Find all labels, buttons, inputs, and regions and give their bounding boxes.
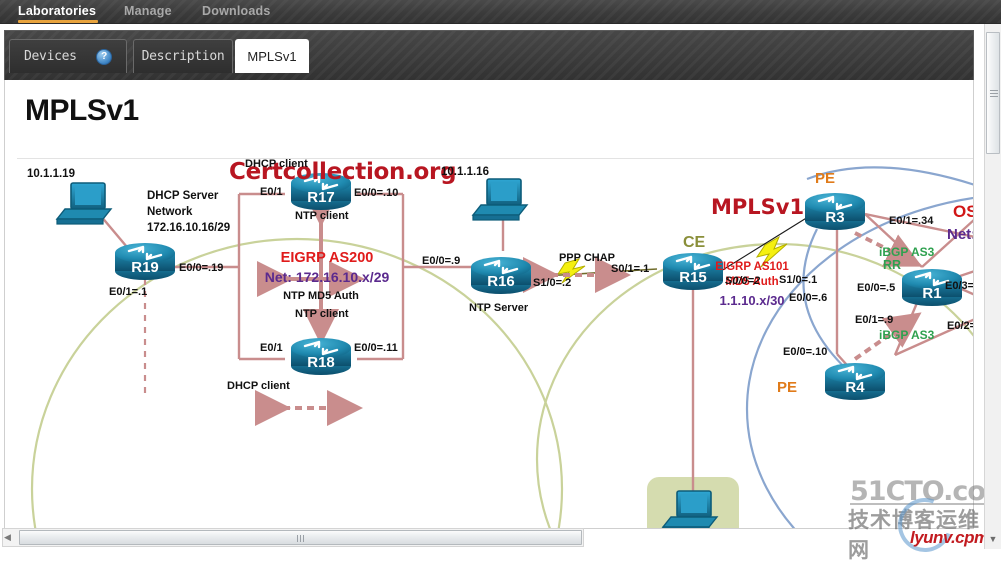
tab-devices-label: Devices bbox=[24, 40, 77, 73]
note-ppp-chap: PPP CHAP bbox=[559, 252, 615, 264]
horizontal-scrollbar-thumb[interactable] bbox=[19, 530, 582, 545]
note-ibgp-as3-bottom: iBGP AS3 bbox=[879, 328, 935, 342]
iface-r18-e0-1: E0/1 bbox=[260, 342, 283, 354]
label-pe-r4: PE bbox=[777, 379, 797, 396]
label-pe-r3: PE bbox=[815, 170, 835, 187]
topology-title: MPLSv1 bbox=[711, 195, 804, 219]
router-r4[interactable]: R4 bbox=[825, 363, 885, 400]
svg-text:R16: R16 bbox=[487, 273, 515, 290]
label-eigrp-as200-net: Net: 172.16.10.x/29 bbox=[265, 269, 390, 285]
label-ospf: OSP bbox=[953, 202, 974, 221]
label-ospf-net: Net: 19 bbox=[947, 226, 974, 243]
svg-text:R3: R3 bbox=[825, 209, 844, 226]
scrollbar-grip-icon bbox=[297, 535, 305, 542]
iface-r15-s0-1: S0/1=.1 bbox=[611, 263, 649, 275]
nav-item-manage[interactable]: Manage bbox=[124, 0, 172, 24]
label-ce-r15: CE bbox=[683, 234, 706, 251]
iface-r16-e0-0: E0/0=.9 bbox=[422, 255, 460, 267]
iface-r1-e0-3: E0/3=.1 bbox=[945, 280, 974, 292]
host-10-1-1-16[interactable] bbox=[473, 179, 527, 220]
note-ntp-md5-auth: NTP MD5 Auth bbox=[283, 290, 359, 302]
tab-devices[interactable]: Devices ? bbox=[9, 39, 127, 73]
content-pane: MPLSv1 bbox=[4, 80, 974, 529]
note-dhcp-server-line2: Network bbox=[147, 206, 193, 218]
label-host-10-1-1-16: 10.1.1.16 bbox=[441, 166, 489, 178]
note-dhcp-client-bottom: DHCP client bbox=[227, 380, 290, 392]
note-ntp-server: NTP Server bbox=[469, 302, 529, 314]
topology-svg: R19 R17 R18 bbox=[17, 159, 974, 529]
scroll-down-arrow-icon[interactable]: ▼ bbox=[987, 533, 999, 545]
help-icon[interactable]: ? bbox=[96, 49, 112, 65]
scroll-left-arrow-icon[interactable]: ◀ bbox=[4, 532, 11, 543]
iface-r17-e0-1: E0/1 bbox=[260, 186, 283, 198]
svg-text:R4: R4 bbox=[845, 379, 865, 396]
iface-r16-s1-0: S1/0=.2 bbox=[533, 277, 571, 289]
label-eigrp-as101-net: 1.1.10.x/30 bbox=[719, 293, 784, 308]
iface-r15-s0-0: S0/0=2 bbox=[725, 275, 760, 287]
label-eigrp-as101: EIGRP AS101 bbox=[715, 261, 789, 273]
note-ntp-client-r18: NTP client bbox=[295, 308, 349, 320]
tab-mplsv1[interactable]: MPLSv1 bbox=[235, 39, 309, 73]
router-r3[interactable]: R3 bbox=[805, 193, 865, 230]
network-diagram: R19 R17 R18 bbox=[17, 158, 974, 529]
iface-r19-e0-1: E0/1=.1 bbox=[109, 286, 147, 298]
iface-r18-e0-0: E0/0=.11 bbox=[354, 342, 398, 354]
svg-text:R15: R15 bbox=[679, 269, 707, 286]
label-eigrp-as200: EIGRP AS200 bbox=[281, 250, 374, 266]
label-host-10-1-1-19: 10.1.1.19 bbox=[27, 168, 75, 180]
iface-r3-s1-0: S1/0=.1 bbox=[779, 274, 817, 286]
note-dhcp-server-line1: DHCP Server bbox=[147, 190, 219, 202]
router-r18[interactable]: R18 bbox=[291, 338, 351, 375]
iface-r17-e0-0: E0/0=.10 bbox=[354, 187, 398, 199]
iface-r3-e0-0: E0/0=.6 bbox=[789, 292, 827, 304]
iface-r4-e0-0: E0/0=.10 bbox=[783, 346, 827, 358]
tab-description[interactable]: Description bbox=[133, 39, 233, 73]
vertical-scrollbar-thumb[interactable] bbox=[986, 32, 1000, 154]
scrollbar-grip-icon bbox=[990, 90, 998, 97]
svg-text:R18: R18 bbox=[307, 354, 335, 371]
iface-r1-e0-1: E0/1=.9 bbox=[855, 314, 893, 326]
page-title: MPLSv1 bbox=[25, 94, 139, 128]
svg-text:R17: R17 bbox=[307, 189, 335, 206]
host-10-1-1-19[interactable] bbox=[57, 183, 111, 224]
top-navigation-bar: Laboratories Manage Downloads bbox=[0, 0, 1001, 24]
svg-text:R1: R1 bbox=[922, 285, 941, 302]
watermark-domain: lyunv.cpm bbox=[910, 528, 989, 548]
iface-r1-e0-2: E0/2=.1 bbox=[947, 320, 974, 332]
note-ntp-client-r17: NTP client bbox=[295, 210, 349, 222]
router-r16[interactable]: R16 bbox=[471, 257, 531, 294]
note-dhcp-server-line3: 172.16.10.16/29 bbox=[147, 222, 230, 234]
iface-r3-e0-1: E0/1=.34 bbox=[889, 215, 934, 227]
vertical-scrollbar[interactable]: ▼ bbox=[984, 24, 1001, 549]
label-rr-r1: RR bbox=[883, 258, 901, 272]
iface-r19-e0-0: E0/0=.19 bbox=[179, 262, 223, 274]
iface-r1-e0-0: E0/0=.5 bbox=[857, 282, 895, 294]
router-r19[interactable]: R19 bbox=[115, 243, 175, 280]
horizontal-scrollbar[interactable]: ◀ bbox=[2, 528, 584, 547]
note-dhcp-client-top: DHCP client bbox=[245, 159, 308, 170]
svg-text:R19: R19 bbox=[131, 259, 159, 276]
nav-active-underline bbox=[18, 20, 98, 23]
router-r15[interactable]: R15 bbox=[663, 253, 723, 290]
tab-strip: Devices ? Description MPLSv1 bbox=[4, 30, 974, 80]
note-ibgp-as3-top: iBGP AS3 bbox=[879, 245, 935, 259]
nav-item-downloads[interactable]: Downloads bbox=[202, 0, 270, 24]
